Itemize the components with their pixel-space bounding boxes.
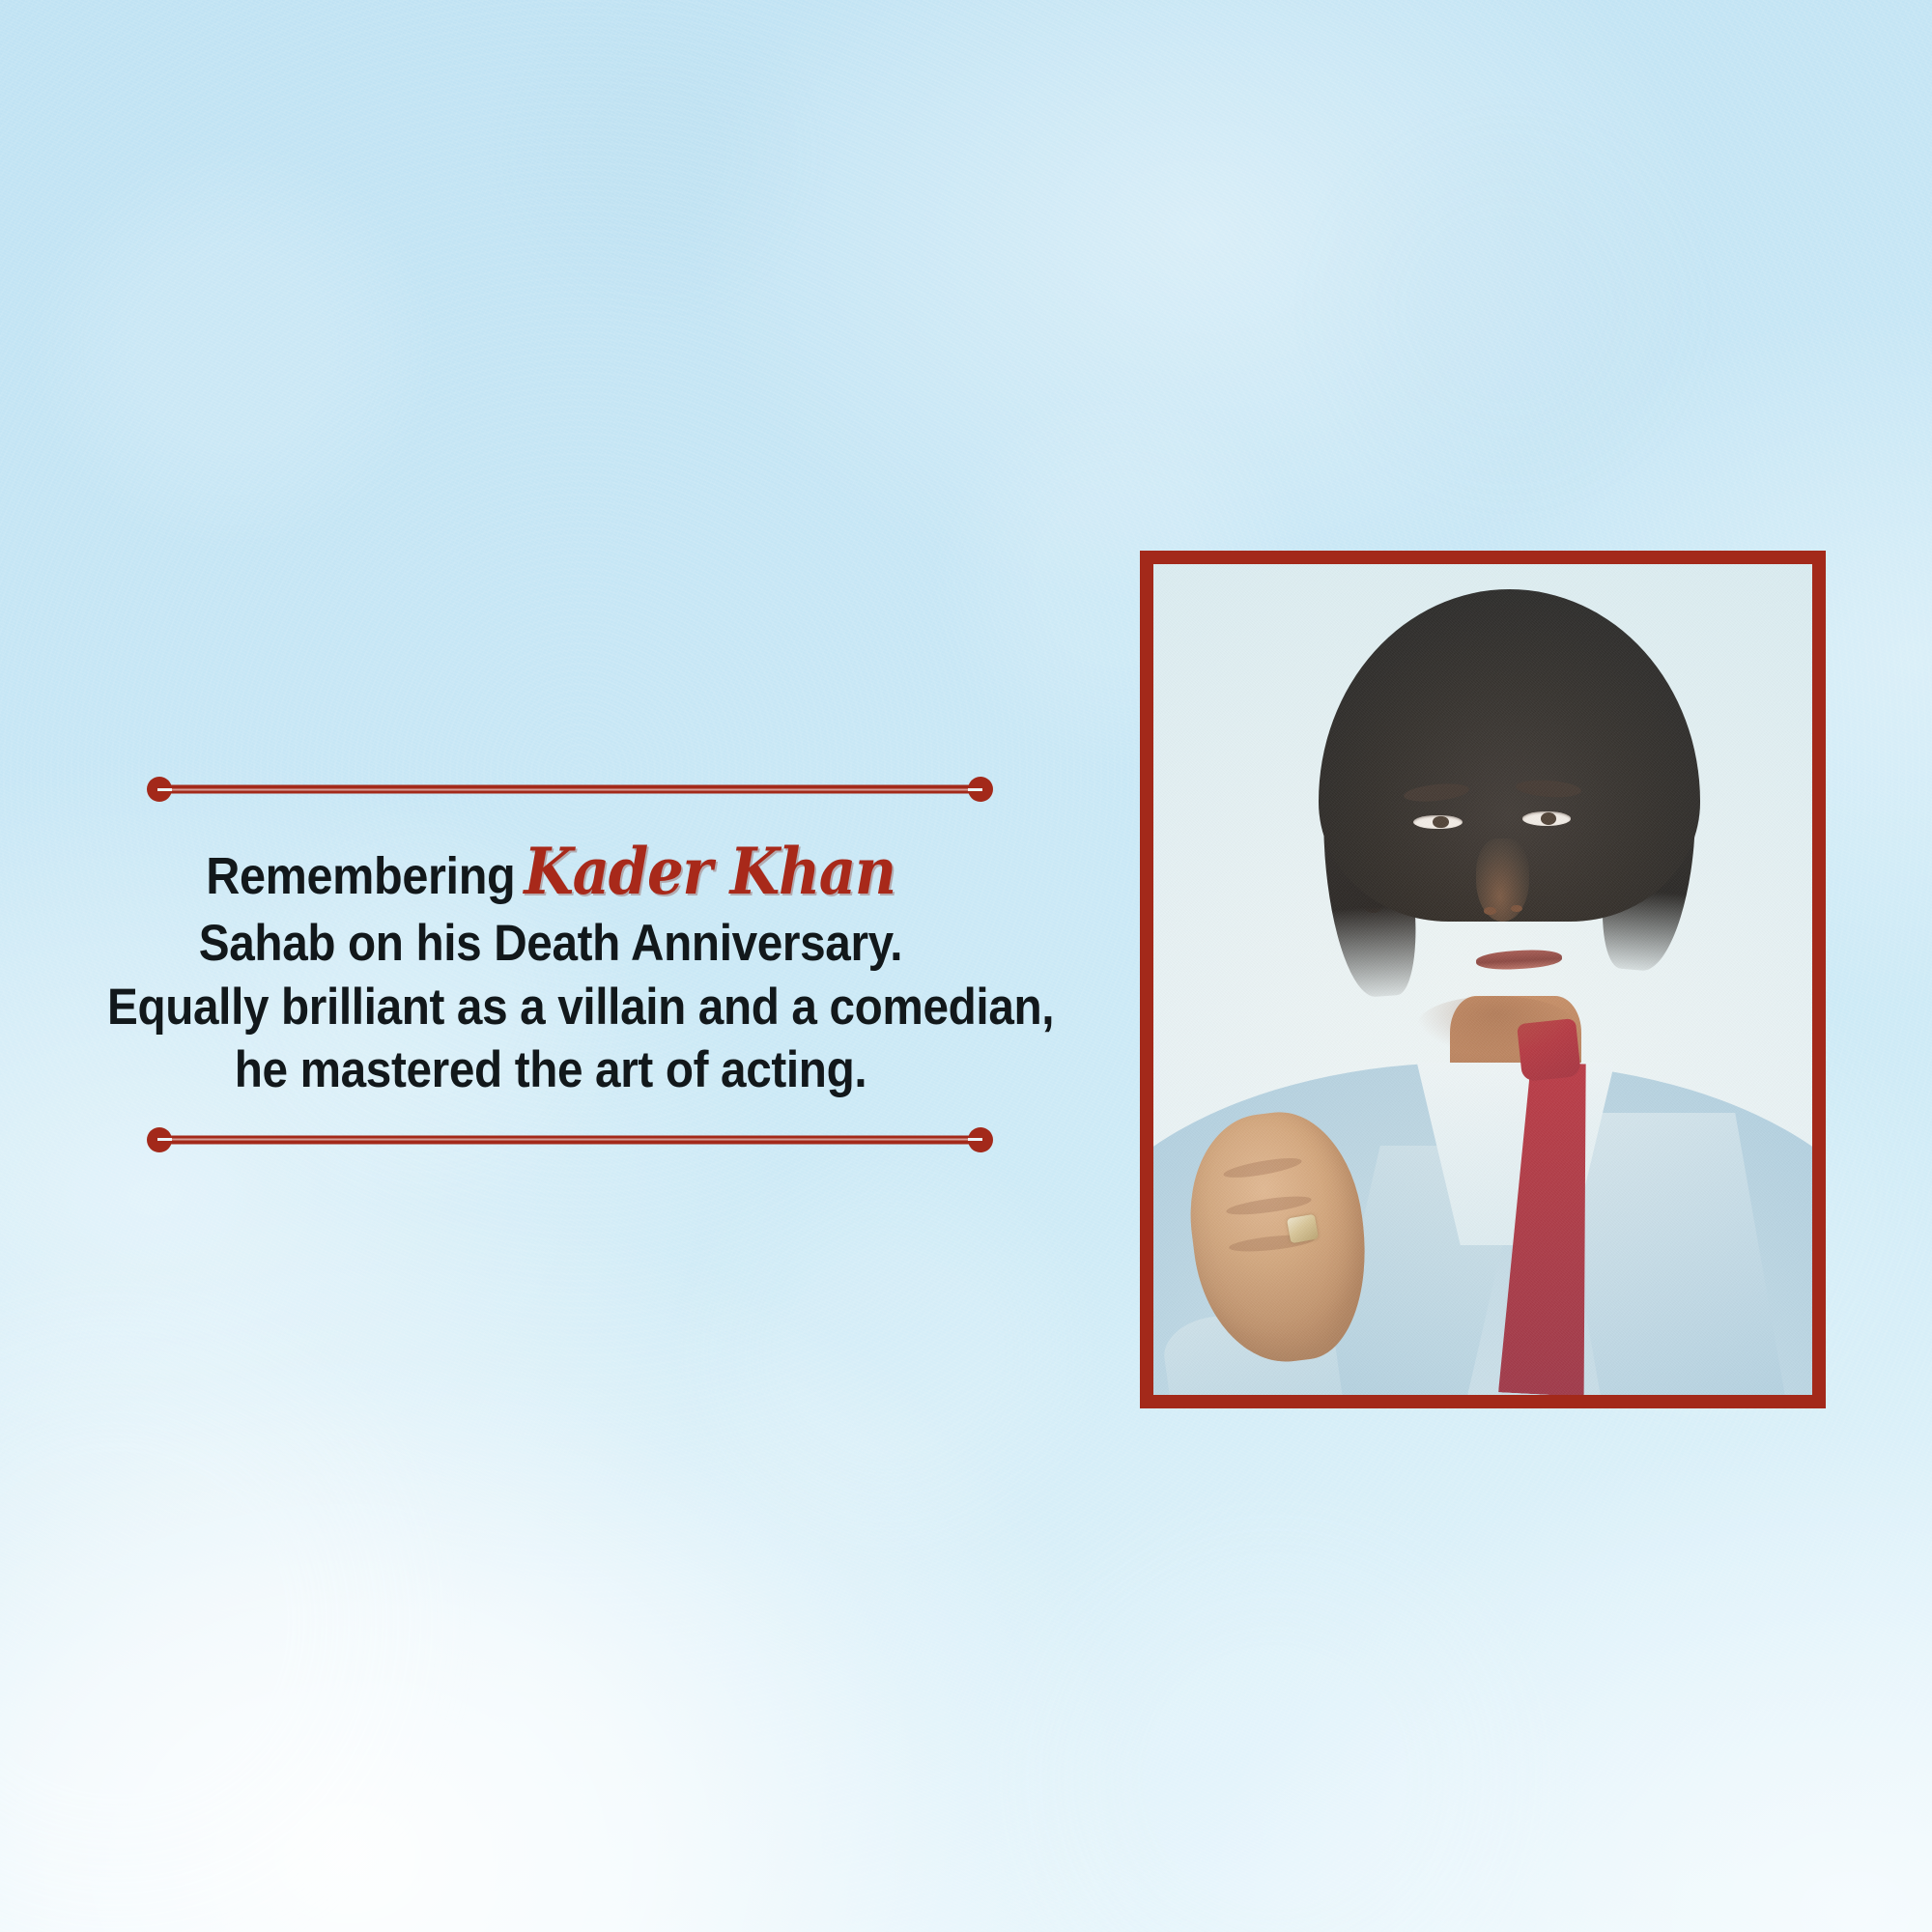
tribute-poster: RememberingKader Khan Sahab on his Death…: [0, 0, 1932, 1932]
pupil-left: [1433, 816, 1448, 829]
divider-dot-left-icon: [147, 777, 172, 802]
tribute-line-1-prefix: Remembering: [206, 847, 515, 905]
subject-name: Kader Khan: [515, 834, 895, 909]
divider-dot-left-icon: [147, 1127, 172, 1152]
tribute-lines: RememberingKader Khan Sahab on his Death…: [58, 806, 1043, 1123]
tribute-line-1: RememberingKader Khan: [107, 833, 994, 912]
nostril-left: [1484, 907, 1495, 915]
divider-bar: [155, 785, 985, 794]
tribute-text-block: RememberingKader Khan Sahab on his Death…: [58, 773, 1043, 1156]
portrait-frame: [1140, 551, 1826, 1408]
portrait-photo: [1153, 564, 1812, 1395]
tribute-line-4: he mastered the art of acting.: [107, 1038, 994, 1102]
tribute-line-2: Sahab on his Death Anniversary.: [107, 912, 994, 976]
top-divider-rule: [58, 773, 1043, 806]
nostril-right: [1511, 905, 1522, 913]
divider-bar: [155, 1135, 985, 1144]
tribute-line-3: Equally brilliant as a villain and a com…: [107, 976, 994, 1039]
divider-dot-right-icon: [968, 777, 993, 802]
divider-dot-right-icon: [968, 1127, 993, 1152]
bottom-divider-rule: [58, 1123, 1043, 1156]
finger-ring: [1287, 1214, 1319, 1243]
